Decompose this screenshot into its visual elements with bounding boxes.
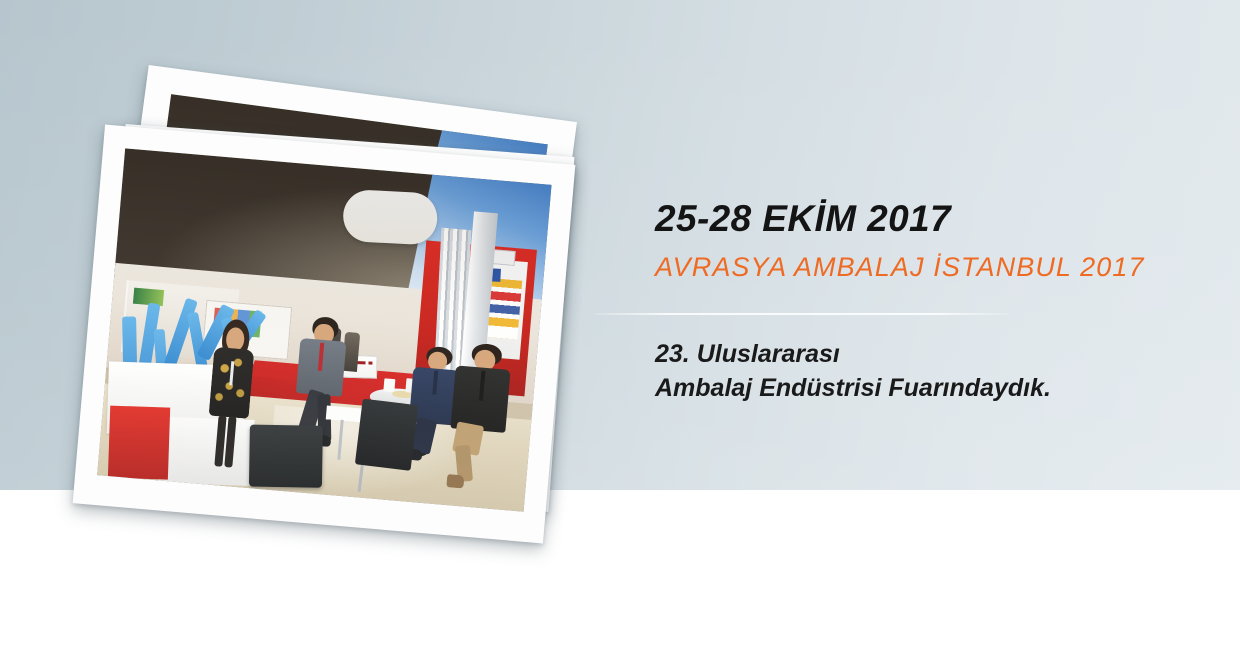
event-name-subhead: AVRASYA AMBALAJ İSTANBUL 2017 <box>655 250 1175 284</box>
photo-front[interactable] <box>73 125 576 544</box>
event-description-line-1: 23. Uluslararası <box>655 337 1051 371</box>
text-divider <box>595 313 1010 315</box>
event-date-headline: 25-28 EKİM 2017 <box>655 196 1175 242</box>
photo-front-image <box>97 148 551 511</box>
photo-stack <box>78 88 618 528</box>
event-description: 23. Uluslararası Ambalaj Endüstrisi Fuar… <box>655 337 1051 405</box>
promo-banner: 25-28 EKİM 2017 AVRASYA AMBALAJ İSTANBUL… <box>0 0 1240 661</box>
event-description-line-2: Ambalaj Endüstrisi Fuarındaydık. <box>655 371 1051 405</box>
trade-fair-photo <box>97 148 551 511</box>
text-column: 25-28 EKİM 2017 AVRASYA AMBALAJ İSTANBUL… <box>655 196 1175 284</box>
